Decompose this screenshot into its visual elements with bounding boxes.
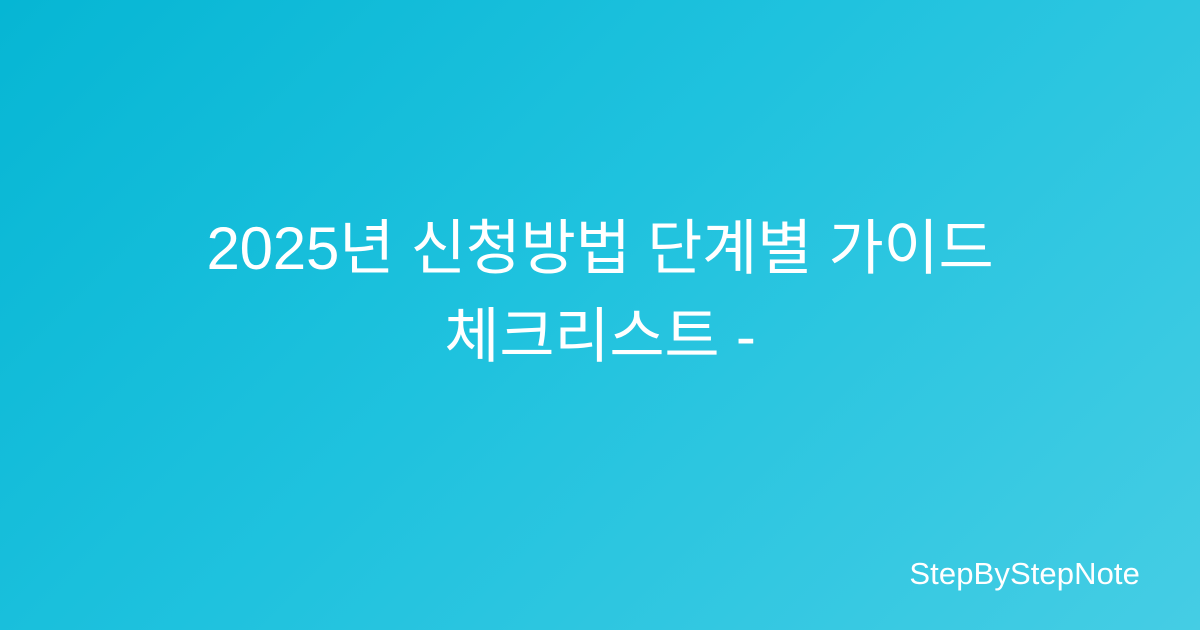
title-area: 2025년 신청방법 단계별 가이드 체크리스트 - bbox=[0, 0, 1200, 630]
brand-area: StepByStepNote bbox=[909, 555, 1140, 592]
og-card: 2025년 신청방법 단계별 가이드 체크리스트 - StepByStepNot… bbox=[0, 0, 1200, 630]
page-title: 2025년 신청방법 단계별 가이드 체크리스트 - bbox=[84, 205, 1116, 380]
brand-name: StepByStepNote bbox=[909, 555, 1140, 592]
